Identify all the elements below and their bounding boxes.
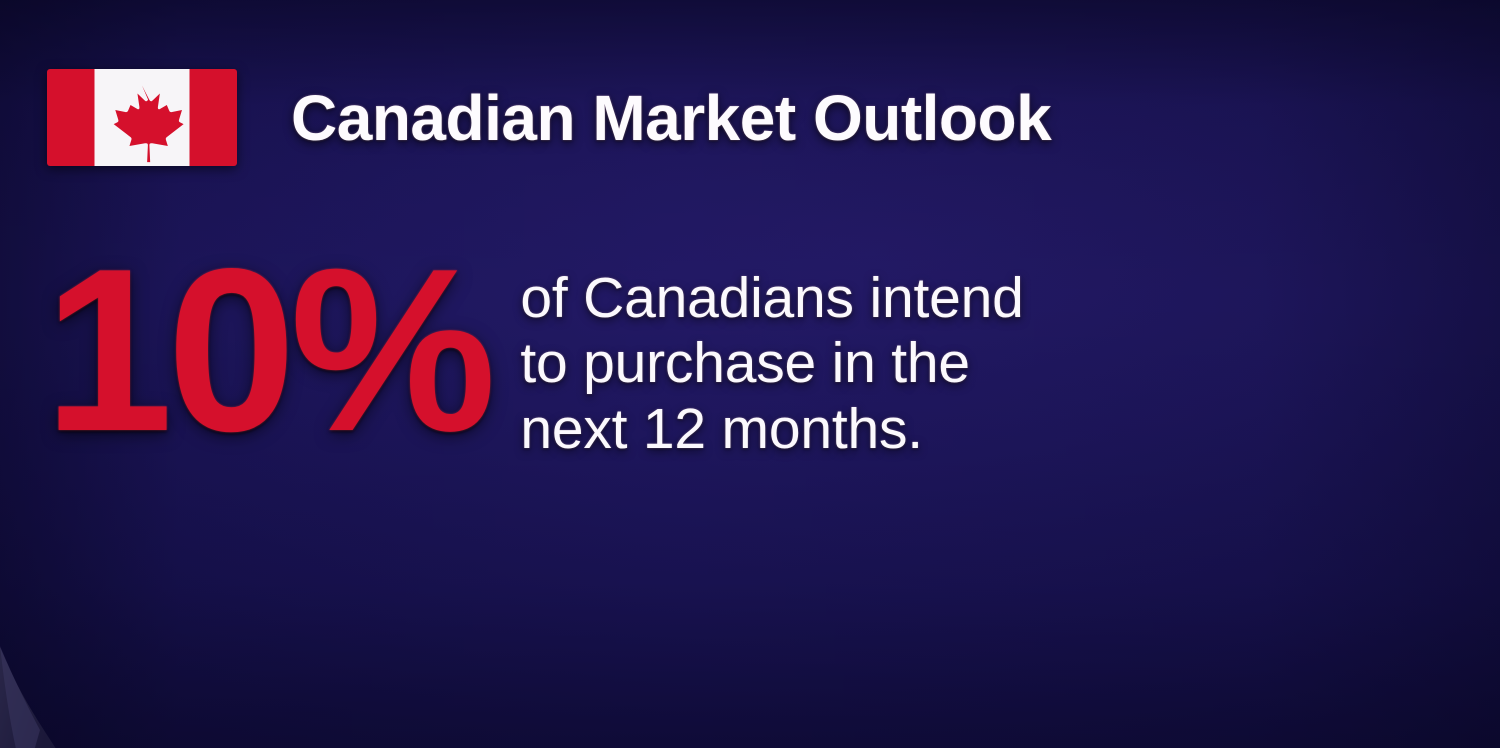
stat-description: of Canadians intend to purchase in the n…: [520, 266, 1023, 462]
statistic-block: 10% of Canadians intend to purchase in t…: [44, 258, 1024, 462]
page-title: Canadian Market Outlook: [291, 81, 1051, 155]
stat-description-line: of Canadians intend: [520, 266, 1023, 331]
stat-description-line: to purchase in the: [520, 331, 1023, 396]
stat-description-line: next 12 months.: [520, 397, 1023, 462]
header: Canadian Market Outlook: [47, 69, 1051, 166]
broadcast-graphic: Canadian Market Outlook 10% of Canadians…: [0, 0, 1500, 748]
canada-flag-icon: [47, 69, 237, 166]
stat-value: 10%: [44, 258, 490, 444]
